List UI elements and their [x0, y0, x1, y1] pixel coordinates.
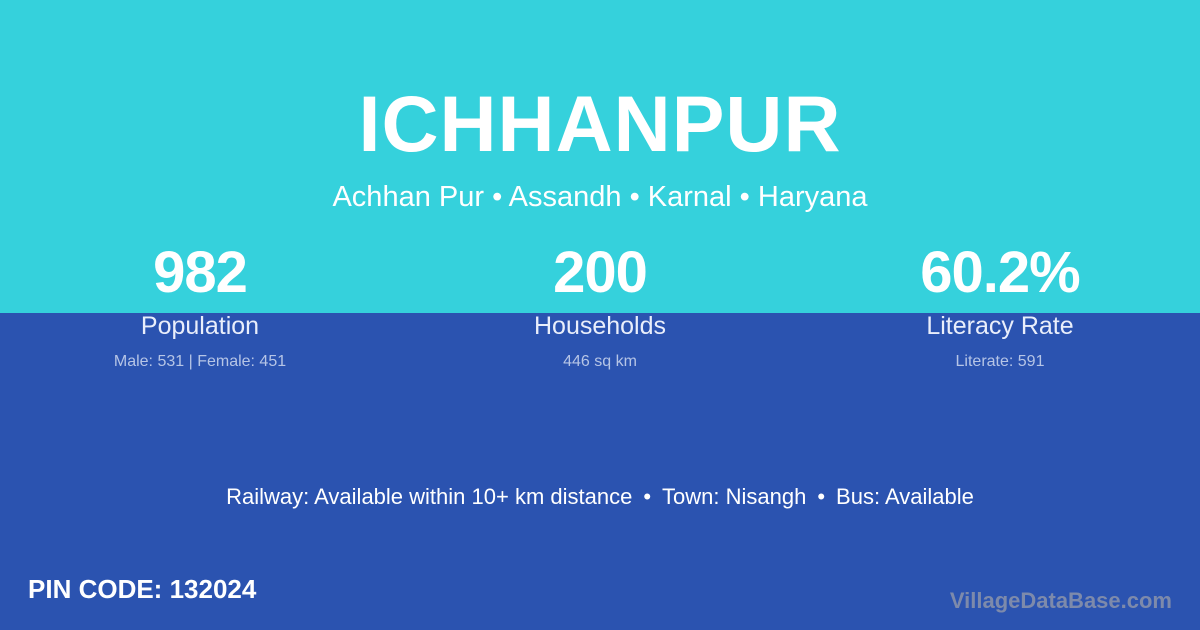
stat-population: 982 Population Male: 531 | Female: 451 — [0, 243, 400, 370]
amenities-row: Railway: Available within 10+ km distanc… — [0, 486, 1200, 508]
stat-households: 200 Households 446 sq km — [400, 243, 800, 370]
stat-sublabel: 446 sq km — [400, 354, 800, 370]
stat-label: Population — [0, 314, 400, 339]
village-info-card: ICHHANPUR Achhan Pur • Assandh • Karnal … — [0, 0, 1200, 630]
stat-label: Literacy Rate — [800, 314, 1200, 339]
page-title: ICHHANPUR — [0, 84, 1200, 163]
stat-value: 982 — [0, 243, 400, 304]
amenity-railway: Railway: Available within 10+ km distanc… — [226, 484, 632, 509]
pin-code: PIN CODE: 132024 — [28, 576, 256, 602]
brand-watermark: VillageDataBase.com — [950, 590, 1172, 612]
amenity-bus: Bus: Available — [836, 484, 974, 509]
breadcrumb: Achhan Pur • Assandh • Karnal • Haryana — [0, 183, 1200, 212]
amenity-town: Town: Nisangh — [662, 484, 806, 509]
stat-sublabel: Literate: 591 — [800, 354, 1200, 370]
stat-value: 60.2% — [800, 243, 1200, 304]
bullet-separator-icon: • — [806, 486, 836, 508]
card-header: ICHHANPUR Achhan Pur • Assandh • Karnal … — [0, 0, 1200, 212]
stat-literacy-rate: 60.2% Literacy Rate Literate: 591 — [800, 243, 1200, 370]
stat-value: 200 — [400, 243, 800, 304]
bullet-separator-icon: • — [632, 486, 662, 508]
statistics-row: 982 Population Male: 531 | Female: 451 2… — [0, 243, 1200, 370]
stat-label: Households — [400, 314, 800, 339]
stat-sublabel: Male: 531 | Female: 451 — [0, 354, 400, 370]
